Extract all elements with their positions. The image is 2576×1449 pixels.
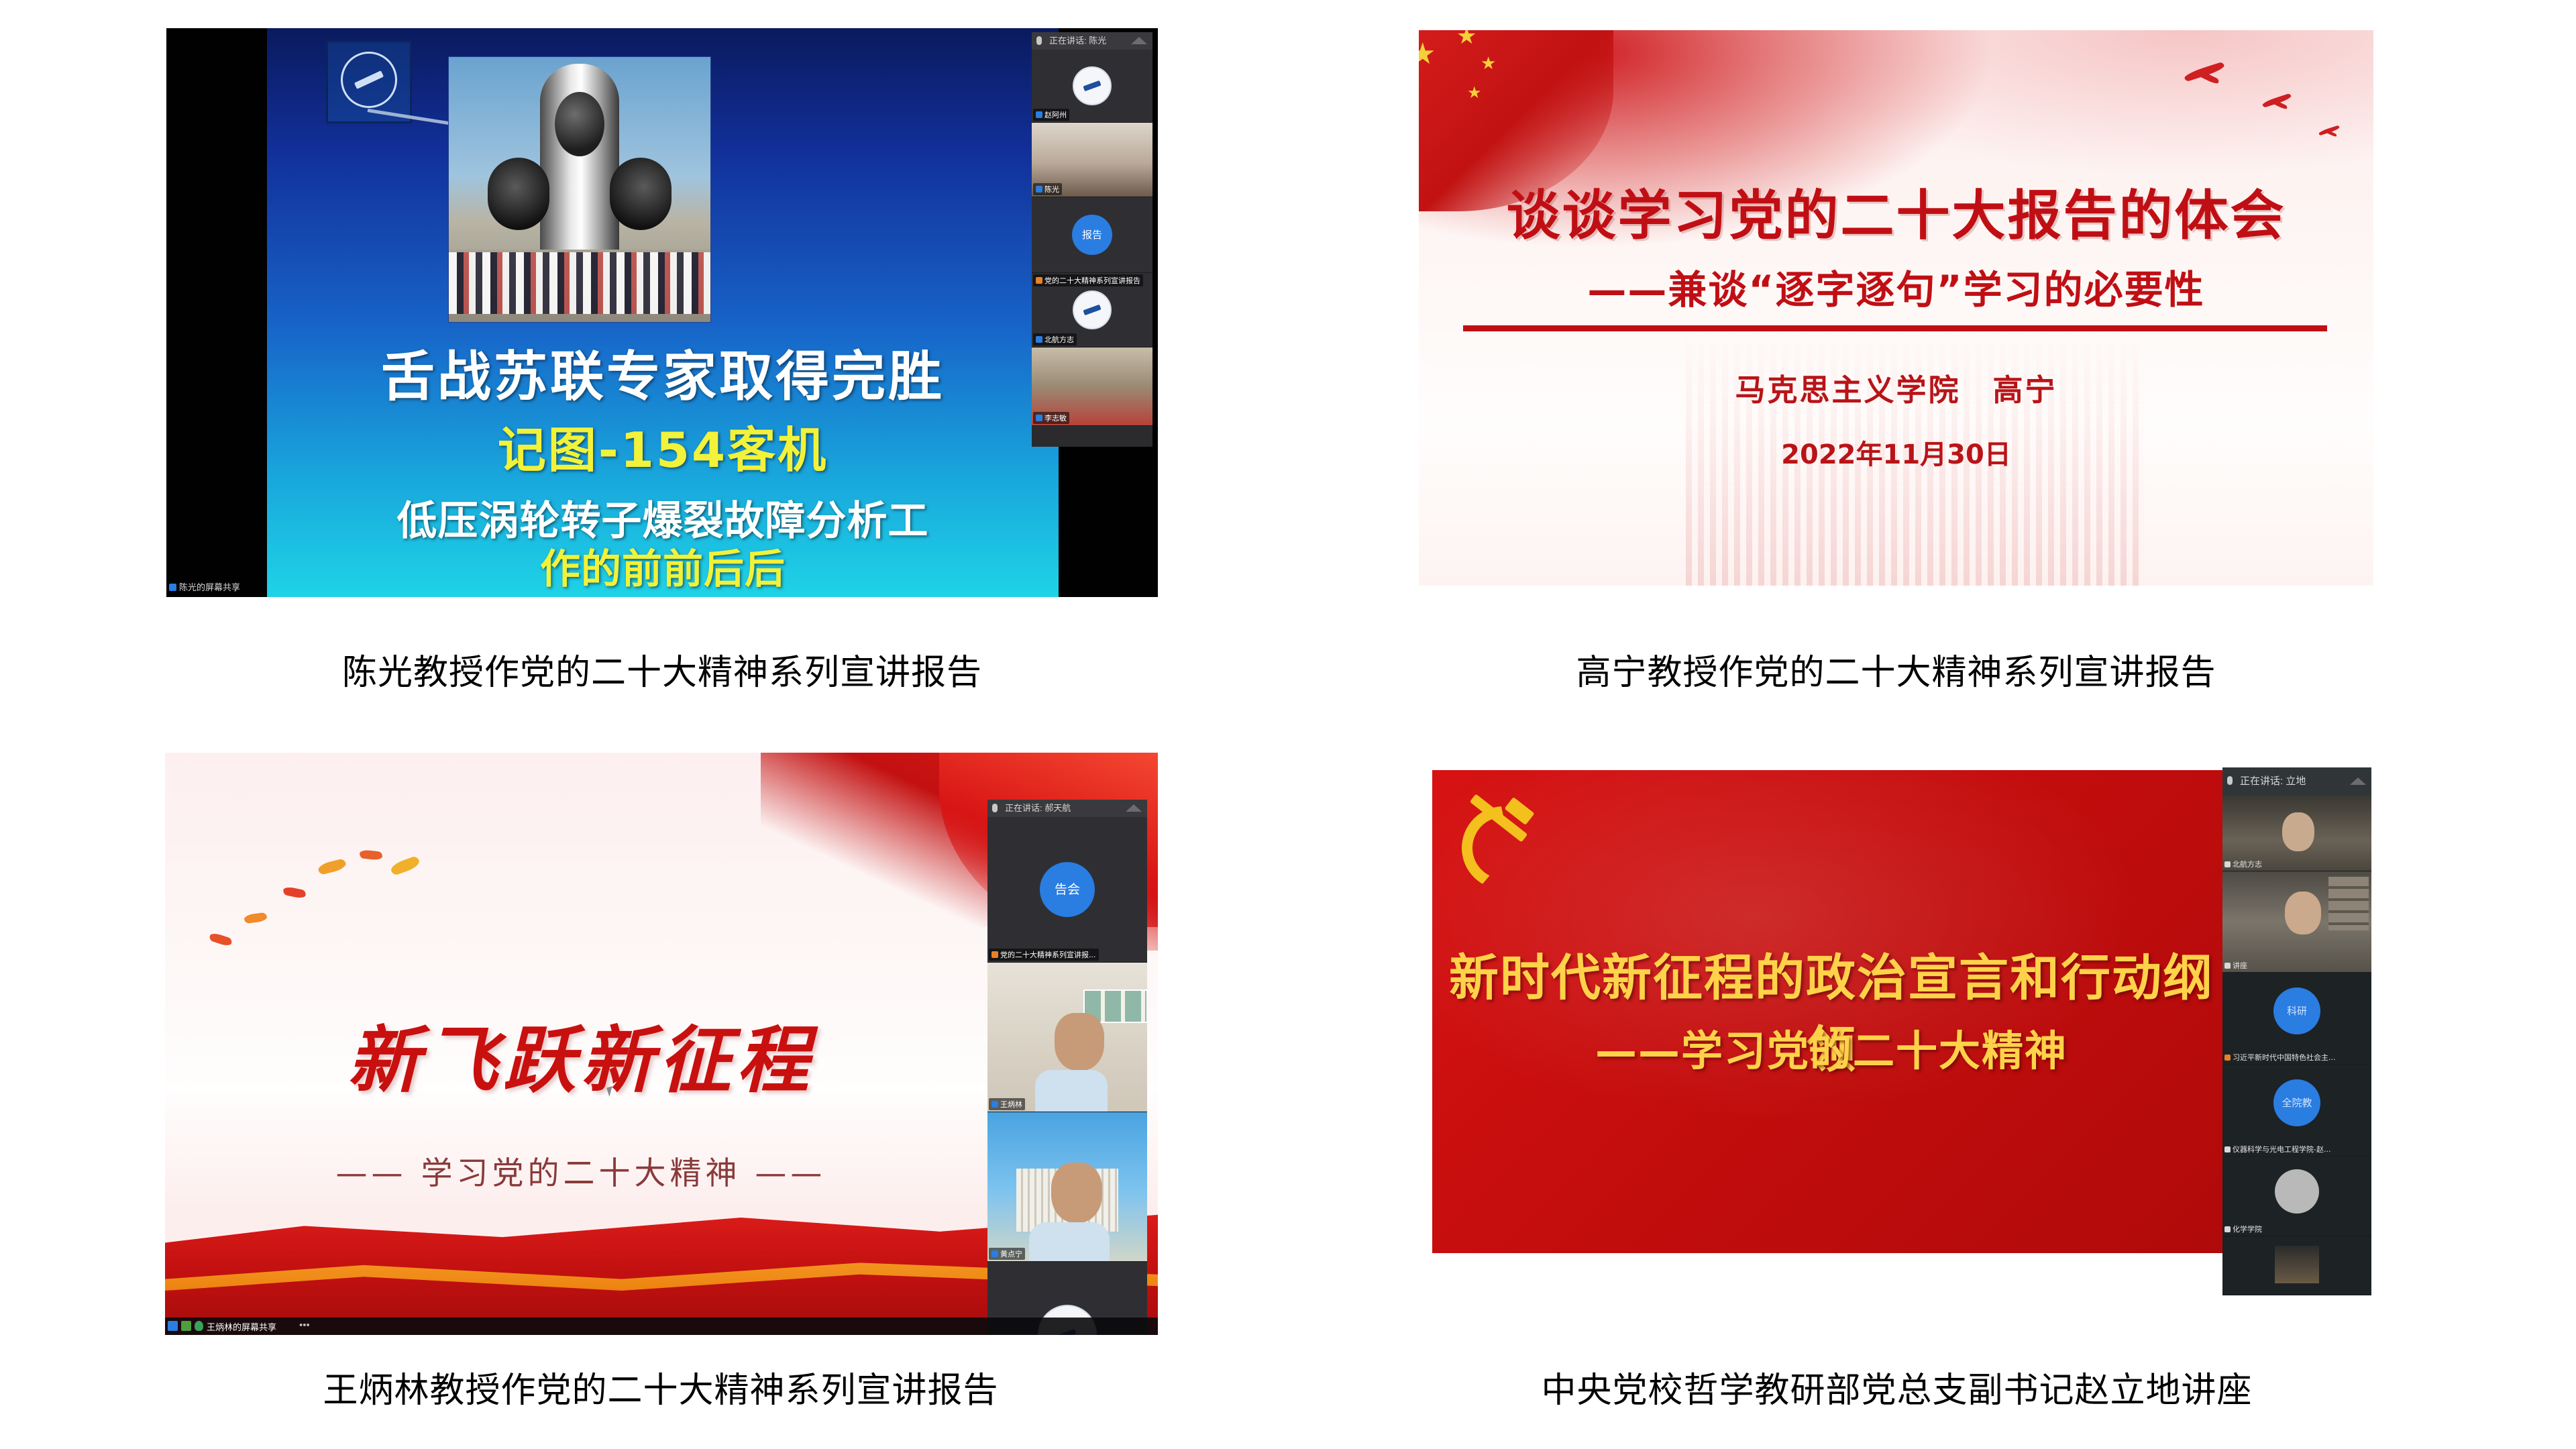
- red-banner: 新时代新征程的政治宣言和行动纲领 ——学习党的二十大精神: [1432, 770, 2231, 1253]
- participant-tile[interactable]: 科研 习近平新时代中国特色社会主...: [2222, 973, 2371, 1065]
- participant-tile[interactable]: 北航方志: [2222, 796, 2371, 871]
- participant-name: 党的二十大精神系列宣讲报...: [989, 949, 1099, 961]
- participant-tile[interactable]: 告会 党的二十大精神系列宣讲报...: [987, 817, 1147, 963]
- participant-avatar: 科研: [2273, 987, 2320, 1034]
- presentation-slide: 舌战苏联专家取得完胜 记图-154客机 低压涡轮转子爆裂故障分析工 作的前前后后: [267, 28, 1059, 597]
- slide-subtitle: ——兼谈“逐字逐句”学习的必要性: [1419, 258, 2373, 315]
- aircraft-photo: [448, 56, 711, 323]
- communist-party-emblem-icon: [1456, 793, 1544, 875]
- participant-avatar: 全院教: [2273, 1079, 2320, 1126]
- chat-icon: [181, 1321, 191, 1331]
- chevron-up-icon[interactable]: [1131, 37, 1147, 44]
- slide-photo-zhaolidi: 新时代新征程的政治宣言和行动纲领 ——学习党的二十大精神 赵立地 中共中央党校（…: [1420, 758, 2373, 1297]
- slide-title: 新飞跃新征程: [165, 1002, 997, 1107]
- participant-video: [2275, 1246, 2319, 1283]
- participant-tile[interactable]: 全院教 仪器科学与光电工程学院-赵...: [2222, 1065, 2371, 1157]
- participant-name: 仪器科学与光电工程学院-赵...: [2224, 1144, 2330, 1155]
- screen-share-status-bar: 王炳林的屏幕共享 •••: [165, 1318, 1158, 1335]
- university-badge-icon: [1073, 66, 1112, 105]
- participant-name: 讲座: [2224, 960, 2247, 971]
- zoom-speaking-header: 正在讲话: 立地: [2222, 767, 2371, 796]
- zoom-participant-strip[interactable]: 正在讲话: 陈光 赵阿州 陈光 报告 党的二十大精神系列宣讲报告 北: [1032, 32, 1152, 447]
- participant-tile[interactable]: 报告: [1032, 197, 1152, 273]
- chevron-up-icon[interactable]: [2350, 777, 2366, 785]
- participant-avatar: [2275, 1169, 2319, 1214]
- divider-rule: [1463, 325, 2327, 331]
- participant-tile[interactable]: 王炳林: [987, 963, 1147, 1112]
- participant-video: [2222, 871, 2371, 972]
- slide-author: 马克思主义学院 高宁: [1419, 366, 2373, 409]
- slide-subtitle: —— 学习党的二十大精神 ——: [165, 1147, 997, 1193]
- zoom-participant-strip[interactable]: 正在讲话: 郝天航 告会 党的二十大精神系列宣讲报... 王炳林 黄点宁 北航方…: [987, 800, 1147, 1335]
- dove-icon: [2262, 98, 2292, 107]
- participant-name: 习近平新时代中国特色社会主...: [2224, 1052, 2336, 1063]
- zoom-speaking-header: 正在讲话: 郝天航: [987, 800, 1147, 817]
- more-options-icon[interactable]: •••: [299, 1320, 310, 1331]
- participant-tile[interactable]: 讲座: [2222, 871, 2371, 973]
- slide-photo-chenguang: 舌战苏联专家取得完胜 记图-154客机 低压涡轮转子爆裂故障分析工 作的前前后后…: [166, 28, 1158, 597]
- screen-share-stage: 舌战苏联专家取得完胜 记图-154客机 低压涡轮转子爆裂故障分析工 作的前前后后…: [166, 28, 1158, 597]
- flag-star-icon: ★: [1467, 85, 1482, 101]
- participant-name: 北航方志: [1033, 333, 1077, 345]
- slide-title-line4: 作的前前后后: [267, 537, 1059, 595]
- flag-star-icon: ★: [1419, 40, 1436, 69]
- participant-tile[interactable]: 陈光: [1032, 123, 1152, 197]
- flag-star-icon: ★: [1481, 54, 1496, 72]
- participant-tile[interactable]: [2222, 1236, 2371, 1295]
- dove-icon: [2184, 68, 2225, 80]
- university-badge-icon: [1073, 290, 1112, 329]
- microphone-icon: [1036, 36, 1042, 45]
- photo-collage-page: 舌战苏联专家取得完胜 记图-154客机 低压涡轮转子爆裂故障分析工 作的前前后后…: [0, 0, 2576, 1449]
- slide-title: 谈谈学习党的二十大报告的体会: [1419, 172, 2373, 250]
- participant-tile[interactable]: 化学学院: [2222, 1157, 2371, 1236]
- participant-avatar: 告会: [1040, 862, 1095, 917]
- flag-star-icon: ★: [1456, 30, 1477, 48]
- participant-name: 黄点宁: [989, 1248, 1025, 1260]
- participant-name: 王炳林: [989, 1098, 1025, 1110]
- caption-wangbinglin: 王炳林教授作党的二十大精神系列宣讲报告: [165, 1362, 1157, 1412]
- caption-chenguang: 陈光教授作党的二十大精神系列宣讲报告: [166, 644, 1158, 694]
- slide-title-line1: 舌战苏联专家取得完胜: [267, 333, 1059, 411]
- participant-tile[interactable]: 赵阿州: [1032, 50, 1152, 123]
- participant-name: 北航方志: [2224, 859, 2262, 869]
- caption-zhaolidi: 中央党校哲学教研部党总支副书记赵立地讲座: [1409, 1362, 2385, 1412]
- participant-tile[interactable]: 黄点宁: [987, 1112, 1147, 1262]
- participant-video: [987, 963, 1147, 1112]
- chevron-up-icon[interactable]: [1126, 804, 1142, 812]
- share-icon: [195, 1321, 203, 1331]
- participant-tile[interactable]: 党的二十大精神系列宣讲报告 北航方志: [1032, 273, 1152, 347]
- slide-photo-gaoning: ★ ★ ★ ★ 谈谈学习党的二十大报告的体会 ——兼谈“逐字逐句”学习的必要性 …: [1419, 30, 2373, 586]
- screen-share-icon: [169, 584, 176, 591]
- microphone-icon: [2227, 776, 2233, 785]
- microphone-icon: [992, 804, 998, 812]
- screen-share-status-bar: 陈光的屏幕共享: [169, 580, 240, 593]
- slide-photo-wangbinglin: 新飞跃新征程 —— 学习党的二十大精神 —— 北京师范大学 王炳林 正在讲话: …: [165, 753, 1158, 1335]
- participants-icon: [168, 1321, 178, 1331]
- participant-avatar: 报告: [1072, 215, 1112, 255]
- slide-title-line2: 记图-154客机: [267, 411, 1059, 481]
- dove-icon: [2318, 128, 2340, 134]
- participant-tile[interactable]: 李志敏: [1032, 347, 1152, 426]
- participant-name: 赵阿州: [1033, 109, 1069, 121]
- caption-gaoning: 高宁教授作党的二十大精神系列宣讲报告: [1419, 644, 2373, 694]
- slide-date: 2022年11月30日: [1419, 433, 2373, 472]
- participant-name: 党的二十大精神系列宣讲报告: [1033, 274, 1143, 286]
- banner-line2: ——学习党的二十大精神: [1432, 1017, 2231, 1077]
- participant-video: [987, 1112, 1147, 1261]
- participant-name: 化学学院: [2224, 1224, 2262, 1234]
- participant-name: 陈光: [1033, 183, 1062, 195]
- zoom-speaking-header: 正在讲话: 陈光: [1032, 32, 1152, 50]
- zoom-participant-strip[interactable]: 正在讲话: 立地 北航方志 讲座 科研 习近平新时代中国特色社会主... 全院教…: [2222, 767, 2371, 1295]
- participant-name: 李志敏: [1033, 412, 1069, 424]
